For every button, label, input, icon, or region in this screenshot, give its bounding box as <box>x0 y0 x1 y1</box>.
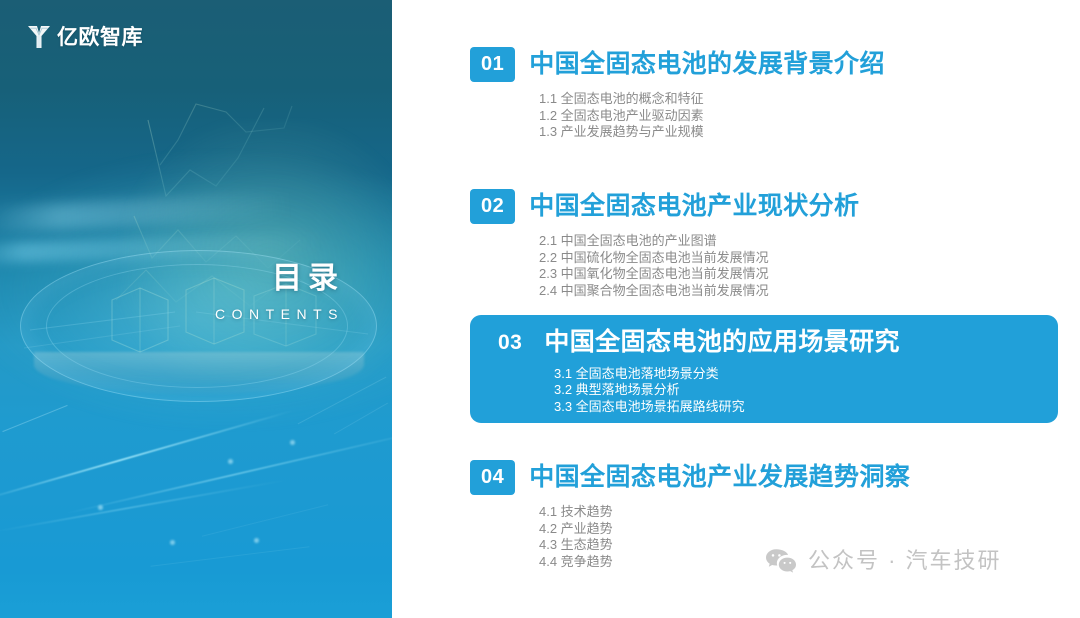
section-subitem[interactable]: 1.2 全固态电池产业驱动因素 <box>539 108 1058 125</box>
section-number-badge: 02 <box>470 189 515 224</box>
section-subitems: 1.1 全固态电池的概念和特征 1.2 全固态电池产业驱动因素 1.3 产业发展… <box>539 91 1058 141</box>
toc-heading: 目录 CONTENTS <box>212 262 344 322</box>
toc-title-en: CONTENTS <box>212 306 344 322</box>
slide-root: 亿欧智库 目录 CONTENTS 01 中国全固态电池的发展背景介绍 1.1 全… <box>0 0 1080 618</box>
section-subitem[interactable]: 3.2 典型落地场景分析 <box>554 382 1058 399</box>
section-header: 02 中国全固态电池产业现状分析 <box>470 189 1058 224</box>
section-subitem[interactable]: 2.1 中国全固态电池的产业图谱 <box>539 233 1058 250</box>
wechat-icon <box>765 548 797 574</box>
section-subitem[interactable]: 2.2 中国硫化物全固态电池当前发展情况 <box>539 250 1058 267</box>
section-header: 04 中国全固态电池产业发展趋势洞察 <box>470 460 1058 495</box>
toc-title-cn: 目录 <box>212 262 344 295</box>
glow-dot <box>170 540 175 545</box>
section-header: 03 中国全固态电池的应用场景研究 <box>470 315 1058 357</box>
toc-content-area: 01 中国全固态电池的发展背景介绍 1.1 全固态电池的概念和特征 1.2 全固… <box>392 0 1080 618</box>
section-title: 中国全固态电池的发展背景介绍 <box>529 51 885 79</box>
glow-dot <box>98 505 103 510</box>
section-number-badge: 04 <box>470 460 515 495</box>
left-decorative-panel: 亿欧智库 目录 CONTENTS <box>0 0 392 618</box>
section-subitem[interactable]: 3.3 全固态电池场景拓展路线研究 <box>554 399 1058 416</box>
section-number-badge: 03 <box>498 332 522 353</box>
watermark-text: 公众号 · 汽车技研 <box>808 550 1002 572</box>
section-subitem[interactable]: 2.4 中国聚合物全固态电池当前发展情况 <box>539 283 1058 300</box>
section-subitems: 3.1 全固态电池落地场景分类 3.2 典型落地场景分析 3.3 全固态电池场景… <box>554 366 1058 416</box>
section-subitem[interactable]: 4.2 产业趋势 <box>539 521 1058 538</box>
section-header: 01 中国全固态电池的发展背景介绍 <box>470 47 1058 82</box>
glow-dot <box>254 538 259 543</box>
antibody-y-icon <box>26 23 52 51</box>
section-title: 中国全固态电池的应用场景研究 <box>544 329 900 357</box>
section-subitems: 2.1 中国全固态电池的产业图谱 2.2 中国硫化物全固态电池当前发展情况 2.… <box>539 233 1058 299</box>
section-subitem[interactable]: 3.1 全固态电池落地场景分类 <box>554 366 1058 383</box>
glow-dot <box>228 459 233 464</box>
section-subitem[interactable]: 4.1 技术趋势 <box>539 504 1058 521</box>
toc-section-01[interactable]: 01 中国全固态电池的发展背景介绍 1.1 全固态电池的概念和特征 1.2 全固… <box>470 47 1058 141</box>
brand-logo-text: 亿欧智库 <box>57 27 143 48</box>
toc-section-03[interactable]: 03 中国全固态电池的应用场景研究 3.1 全固态电池落地场景分类 3.2 典型… <box>470 315 1058 415</box>
section-subitem[interactable]: 1.3 产业发展趋势与产业规模 <box>539 124 1058 141</box>
section-subitem[interactable]: 1.1 全固态电池的概念和特征 <box>539 91 1058 108</box>
glow-dot <box>290 440 295 445</box>
section-subitem[interactable]: 2.3 中国氧化物全固态电池当前发展情况 <box>539 266 1058 283</box>
toc-section-02[interactable]: 02 中国全固态电池产业现状分析 2.1 中国全固态电池的产业图谱 2.2 中国… <box>470 189 1058 299</box>
section-number-badge: 01 <box>470 47 515 82</box>
brand-logo[interactable]: 亿欧智库 <box>26 23 143 51</box>
section-title: 中国全固态电池产业发展趋势洞察 <box>529 464 910 492</box>
wechat-watermark: 公众号 · 汽车技研 <box>765 548 1002 574</box>
section-title: 中国全固态电池产业现状分析 <box>529 193 859 221</box>
